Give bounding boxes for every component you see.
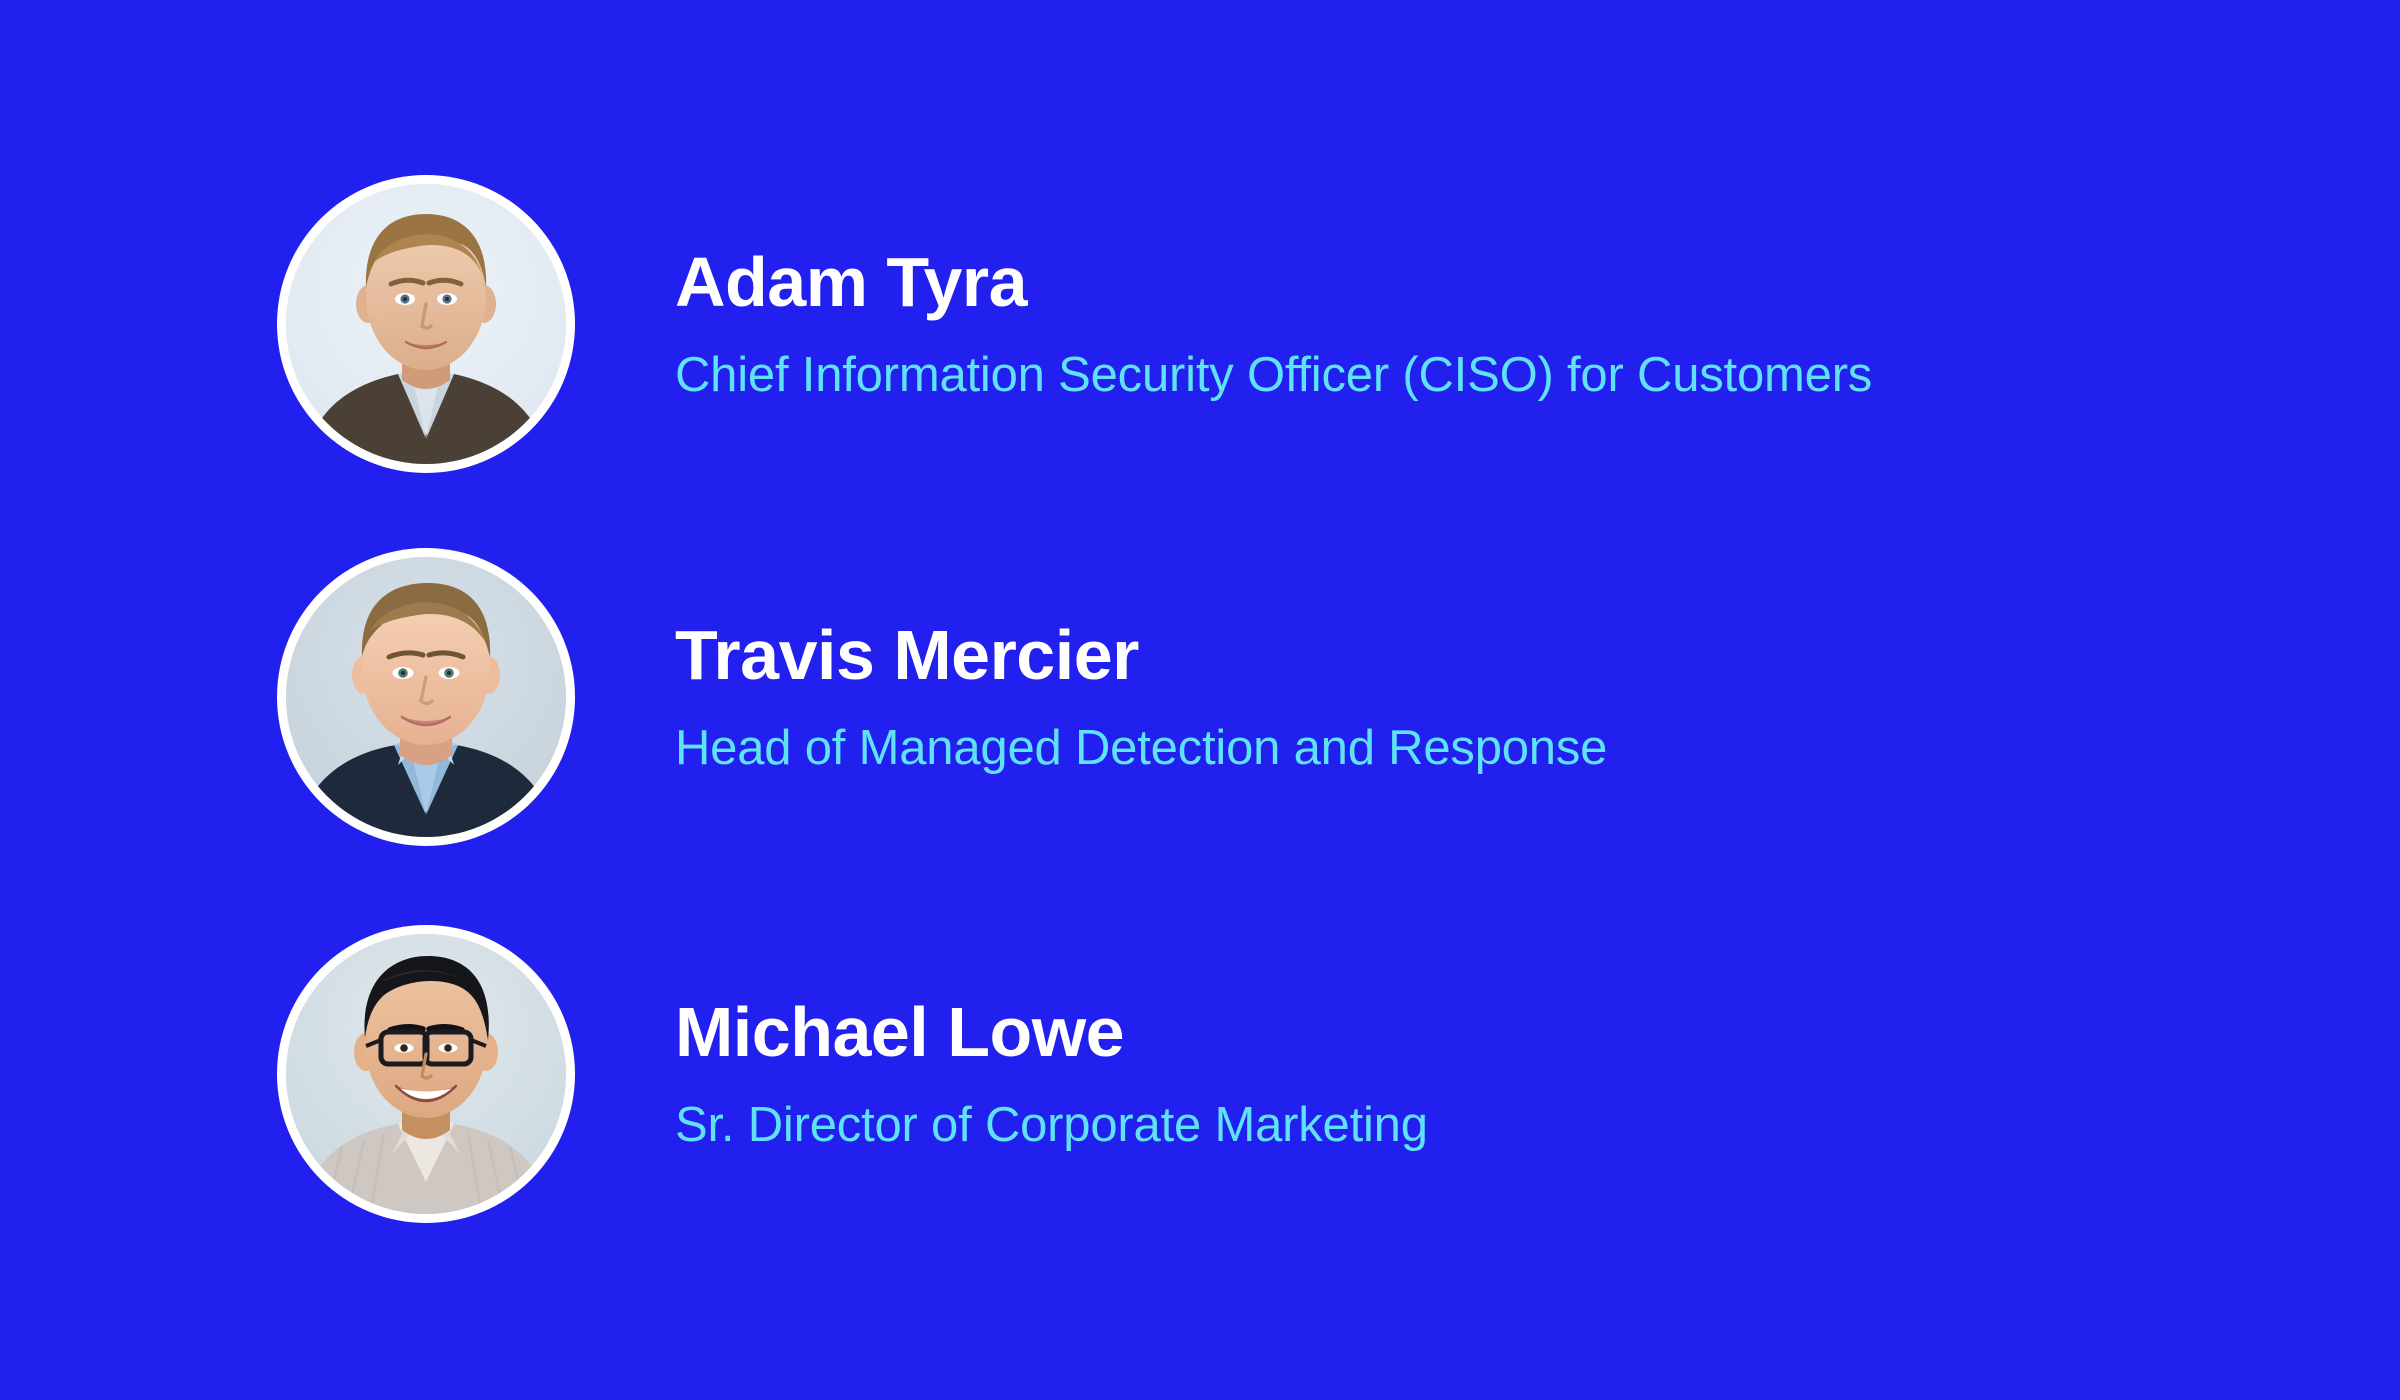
speaker-title: Sr. Director of Corporate Marketing (675, 1099, 1428, 1153)
speaker-name: Adam Tyra (675, 245, 1872, 321)
avatar (277, 175, 575, 473)
speaker-row: Adam Tyra Chief Information Security Off… (277, 175, 2277, 473)
portrait-photo-avatar (286, 184, 566, 464)
speaker-row: Travis Mercier Head of Managed Detection… (277, 548, 2277, 846)
speaker-text: Adam Tyra Chief Information Security Off… (675, 245, 1872, 402)
speaker-name: Travis Mercier (675, 618, 1607, 694)
speaker-title: Chief Information Security Officer (CISO… (675, 349, 1872, 403)
speaker-list: Adam Tyra Chief Information Security Off… (0, 0, 2400, 1400)
avatar (277, 925, 575, 1223)
speaker-row: Michael Lowe Sr. Director of Corporate M… (277, 925, 2277, 1223)
portrait-photo-avatar (286, 934, 566, 1214)
speaker-text: Travis Mercier Head of Managed Detection… (675, 618, 1607, 775)
avatar (277, 548, 575, 846)
avatar-photo-clip (286, 184, 566, 464)
avatar-photo-clip (286, 557, 566, 837)
avatar-photo-clip (286, 934, 566, 1214)
speaker-text: Michael Lowe Sr. Director of Corporate M… (675, 995, 1428, 1152)
speaker-title: Head of Managed Detection and Response (675, 722, 1607, 776)
portrait-photo-avatar (286, 557, 566, 837)
speaker-name: Michael Lowe (675, 995, 1428, 1071)
